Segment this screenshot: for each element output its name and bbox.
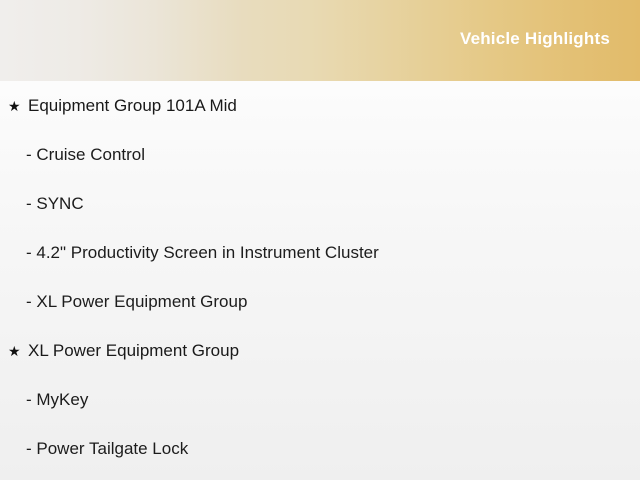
list-item-label: XL Power Equipment Group xyxy=(28,341,239,361)
list-item: - Cruise Control xyxy=(0,130,640,179)
list-item: - SYNC xyxy=(0,179,640,228)
list-item: ★ Equipment Group 101A Mid xyxy=(0,81,640,130)
list-item: ★ XL Power Equipment Group xyxy=(0,326,640,375)
star-icon: ★ xyxy=(8,99,28,113)
list-item-label: - SYNC xyxy=(26,194,84,214)
list-item-label: - MyKey xyxy=(26,390,88,410)
list-item-label: Equipment Group 101A Mid xyxy=(28,96,237,116)
page-title: Vehicle Highlights xyxy=(460,29,610,49)
list-item: - Power Tailgate Lock xyxy=(0,424,640,473)
list-item: - XL Power Equipment Group xyxy=(0,277,640,326)
header-banner: Vehicle Highlights xyxy=(0,0,640,81)
list-item-label: - 4.2" Productivity Screen in Instrument… xyxy=(26,243,379,263)
star-icon: ★ xyxy=(8,344,28,358)
vehicle-highlights-page: Vehicle Highlights ★ Equipment Group 101… xyxy=(0,0,640,480)
list-item: - 4.2" Productivity Screen in Instrument… xyxy=(0,228,640,277)
highlights-list: ★ Equipment Group 101A Mid - Cruise Cont… xyxy=(0,81,640,473)
list-item-label: - XL Power Equipment Group xyxy=(26,292,247,312)
list-item: - MyKey xyxy=(0,375,640,424)
list-item-label: - Power Tailgate Lock xyxy=(26,439,188,459)
list-item-label: - Cruise Control xyxy=(26,145,145,165)
